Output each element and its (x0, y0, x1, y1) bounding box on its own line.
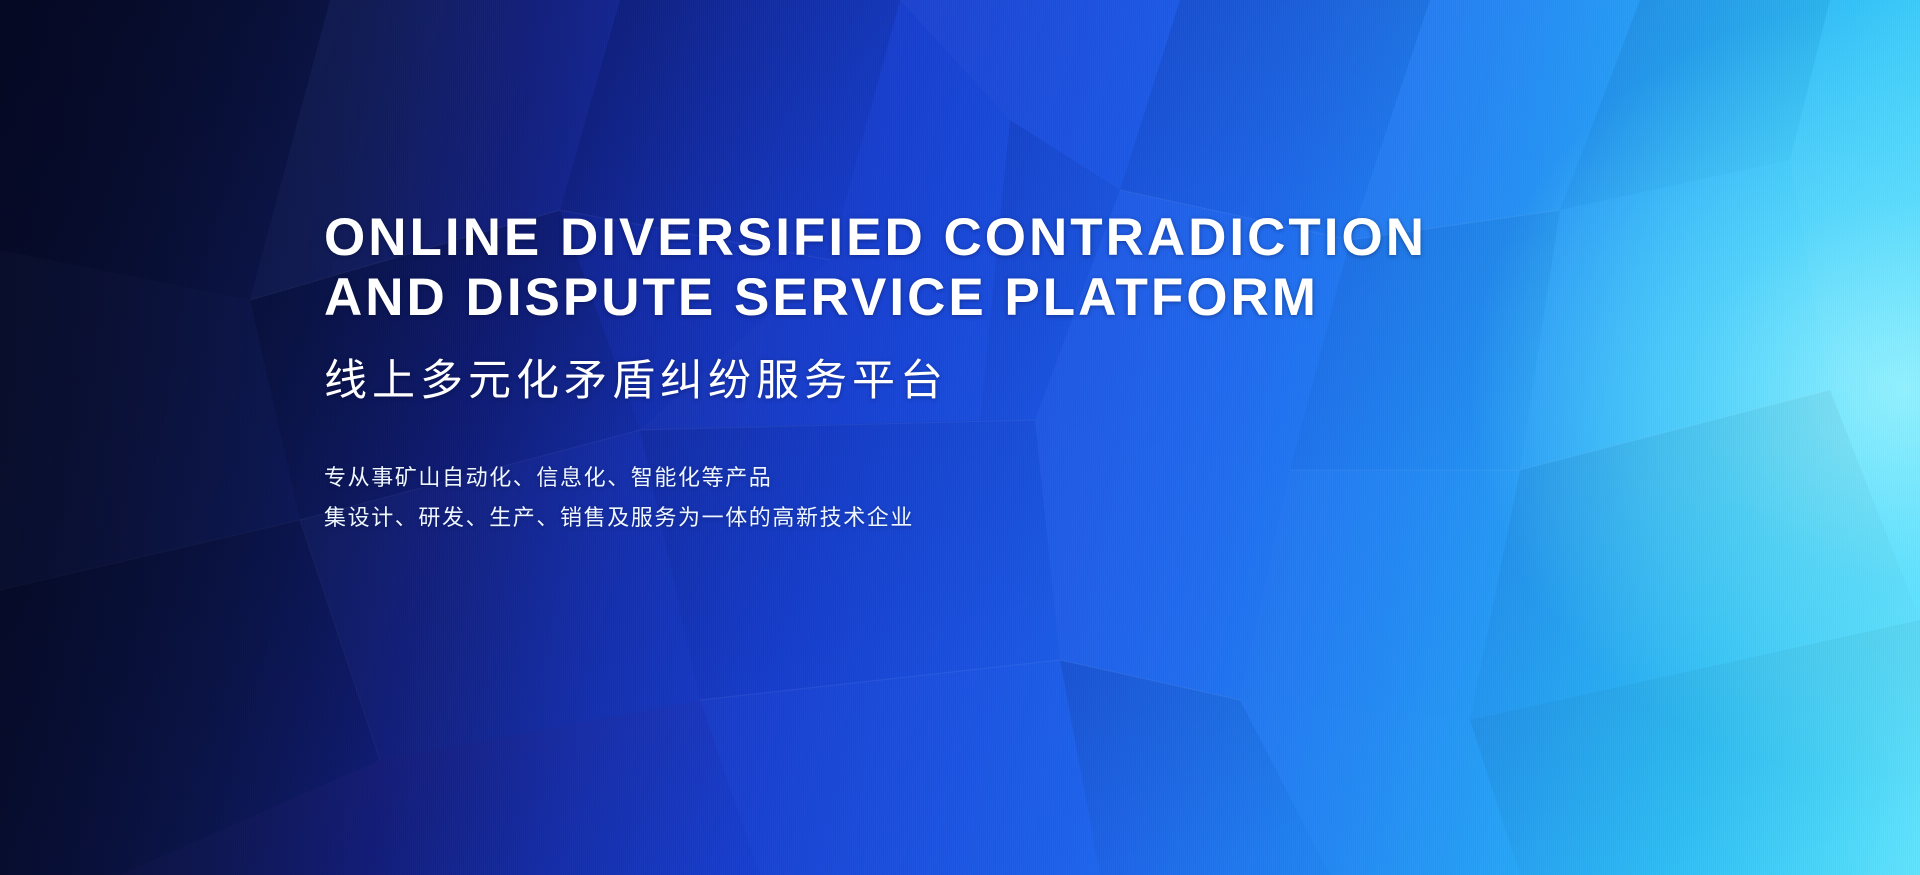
banner-description-line-1: 专从事矿山自动化、信息化、智能化等产品 (324, 458, 1427, 498)
banner-description-line-2: 集设计、研发、生产、销售及服务为一体的高新技术企业 (324, 498, 1427, 538)
banner-headline-line-1: ONLINE DIVERSIFIED CONTRADICTION (324, 208, 1427, 268)
hero-banner: ONLINE DIVERSIFIED CONTRADICTION AND DIS… (0, 0, 1920, 875)
banner-subheading: 线上多元化矛盾纠纷服务平台 (324, 356, 1427, 406)
banner-headline-line-2: AND DISPUTE SERVICE PLATFORM (324, 268, 1427, 328)
banner-copy-block: ONLINE DIVERSIFIED CONTRADICTION AND DIS… (324, 208, 1427, 538)
banner-description: 专从事矿山自动化、信息化、智能化等产品 集设计、研发、生产、销售及服务为一体的高… (324, 458, 1427, 538)
